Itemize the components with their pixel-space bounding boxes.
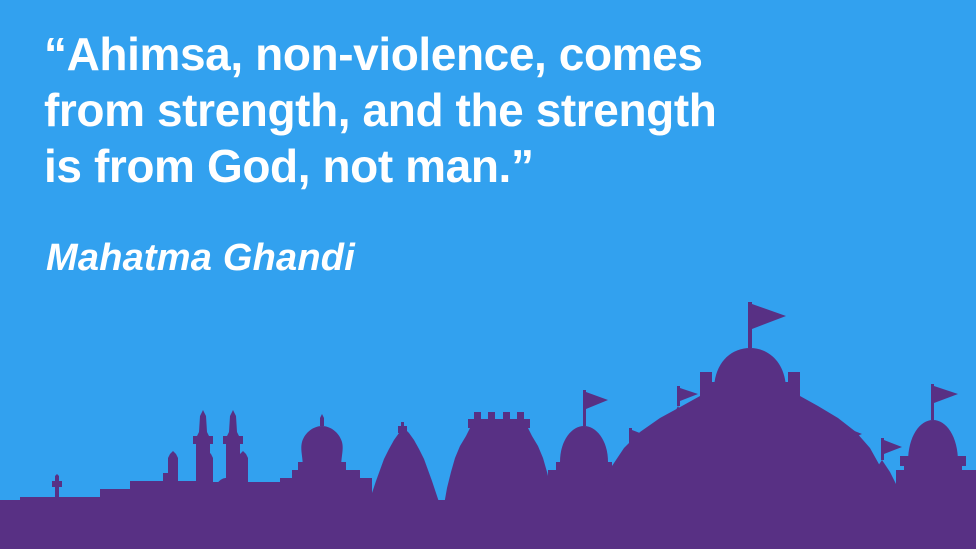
- quote-attribution: Mahatma Ghandi: [46, 236, 355, 280]
- lower-mass: [0, 520, 976, 549]
- right-spire-1: [824, 448, 856, 505]
- left-finial-a: [55, 474, 59, 497]
- quote-text-block: “Ahimsa, non-violence, comes from streng…: [44, 26, 904, 194]
- onion-dome-finial: [320, 414, 324, 426]
- left-finial-a-band: [52, 481, 62, 487]
- minaret-right: [226, 410, 240, 482]
- right-spire-2-flag: [884, 440, 902, 454]
- left-low-buildings: [20, 473, 300, 505]
- small-spire-a-pole: [629, 428, 632, 450]
- main-temple-flag: [752, 304, 786, 329]
- base-fill: [0, 500, 976, 549]
- turret-left-pole: [677, 386, 680, 406]
- gopuram-tower-2-crenellation: [468, 412, 530, 428]
- mosque-body: [166, 482, 320, 492]
- skyline-silhouette-group: [0, 302, 976, 549]
- far-right-collar: [900, 456, 966, 466]
- quote-card: “Ahimsa, non-violence, comes from streng…: [0, 0, 976, 549]
- mosque-small-finial-3: [238, 451, 248, 482]
- gopuram-tower-1-crest: [398, 422, 407, 433]
- far-right-building: [896, 462, 970, 505]
- mosque-base: [150, 492, 330, 505]
- far-right-edge-block: [966, 470, 976, 505]
- mid-dome-building: [548, 462, 620, 505]
- onion-dome-collar: [298, 462, 346, 471]
- mosque-small-finial-1: [168, 451, 178, 482]
- right-spire-1-pole: [839, 424, 842, 448]
- ground-band: [0, 505, 976, 549]
- quote-line-2: from strength, and the strength: [44, 82, 904, 138]
- far-right-dome: [908, 420, 958, 462]
- turret-left-flag: [680, 388, 698, 401]
- main-temple-collar-blocks: [700, 372, 800, 382]
- right-spire-2-pole: [881, 438, 884, 460]
- small-spire-a-flag: [632, 430, 650, 444]
- right-spire-2: [866, 460, 898, 505]
- minaret-left: [196, 410, 210, 482]
- mid-dome-flag: [586, 392, 608, 409]
- mosque-mini-dome: [215, 478, 237, 492]
- quote-line-1: “Ahimsa, non-violence, comes: [44, 26, 904, 82]
- turret-left-of-main: [672, 406, 684, 430]
- main-temple-dome: [714, 348, 786, 390]
- gopuram-tower-1: [368, 428, 440, 505]
- mid-dome-flagpole: [583, 390, 586, 426]
- main-temple-mass: [600, 374, 890, 505]
- mosque-small-finial-2: [203, 451, 213, 482]
- main-temple-collar: [700, 382, 800, 396]
- mid-dome: [560, 426, 608, 462]
- small-spire-a: [617, 450, 643, 505]
- minaret-left-balcony: [193, 436, 213, 444]
- far-right-flag: [934, 386, 958, 403]
- onion-dome: [301, 426, 342, 470]
- right-spire-1-flag: [842, 426, 862, 442]
- main-temple-flagpole: [748, 302, 752, 348]
- far-right-flagpole: [931, 384, 934, 420]
- quote-line-3: is from God, not man.”: [44, 138, 904, 194]
- gopuram-tower-2: [444, 428, 554, 505]
- onion-dome-building: [280, 470, 372, 505]
- minaret-right-balcony: [223, 436, 243, 444]
